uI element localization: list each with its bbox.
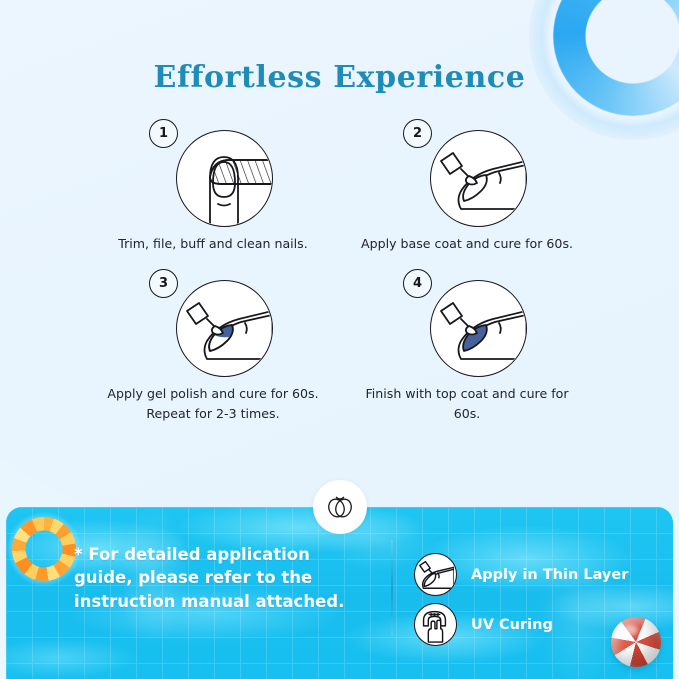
feature-label: Apply in Thin Layer bbox=[471, 567, 628, 583]
poster-root: Effortless Experience bbox=[0, 0, 679, 679]
brand-badge bbox=[313, 480, 367, 534]
step-number: 3 bbox=[149, 269, 178, 298]
step-caption: Trim, file, buff and clean nails. bbox=[106, 234, 321, 254]
page-title: Effortless Experience bbox=[0, 60, 679, 95]
steps-grid: 1 Trim, file, buff and clean nails. bbox=[100, 125, 580, 424]
feature-item-uv-curing: UV Curing bbox=[414, 603, 553, 646]
feature-item-thin-layer: Apply in Thin Layer bbox=[414, 553, 628, 596]
top-coat-brush-icon bbox=[430, 280, 527, 377]
brand-logo-icon bbox=[324, 491, 356, 523]
step-number: 2 bbox=[403, 119, 432, 148]
nail-file-icon bbox=[176, 130, 273, 227]
step-caption: Finish with top coat and cure for 60s. bbox=[360, 384, 575, 424]
step-artwork: 3 bbox=[163, 275, 263, 375]
base-coat-brush-icon bbox=[430, 130, 527, 227]
life-ring-icon bbox=[12, 517, 76, 581]
step-caption: Apply gel polish and cure for 60s. Repea… bbox=[106, 384, 321, 424]
beach-ball-icon bbox=[611, 617, 661, 667]
step-artwork: 1 bbox=[163, 125, 263, 225]
banner-note: * For detailed application guide, please… bbox=[74, 543, 354, 613]
step-item: 2 Apply base coat and cure for 60s. bbox=[354, 125, 580, 254]
step-artwork: 2 bbox=[417, 125, 517, 225]
feature-label: UV Curing bbox=[471, 617, 553, 633]
step-item: 1 Trim, file, buff and clean nails. bbox=[100, 125, 326, 254]
thin-layer-brush-icon bbox=[414, 553, 457, 596]
banner-divider bbox=[391, 540, 393, 636]
step-number: 4 bbox=[403, 269, 432, 298]
step-artwork: 4 bbox=[417, 275, 517, 375]
gel-polish-brush-icon bbox=[176, 280, 273, 377]
step-item: 4 Finish with top coat and cure for 60s. bbox=[354, 275, 580, 424]
step-item: 3 Apply gel polish and cure for 60s. Rep… bbox=[100, 275, 326, 424]
step-caption: Apply base coat and cure for 60s. bbox=[360, 234, 575, 254]
step-number: 1 bbox=[149, 119, 178, 148]
uv-lamp-icon bbox=[414, 603, 457, 646]
